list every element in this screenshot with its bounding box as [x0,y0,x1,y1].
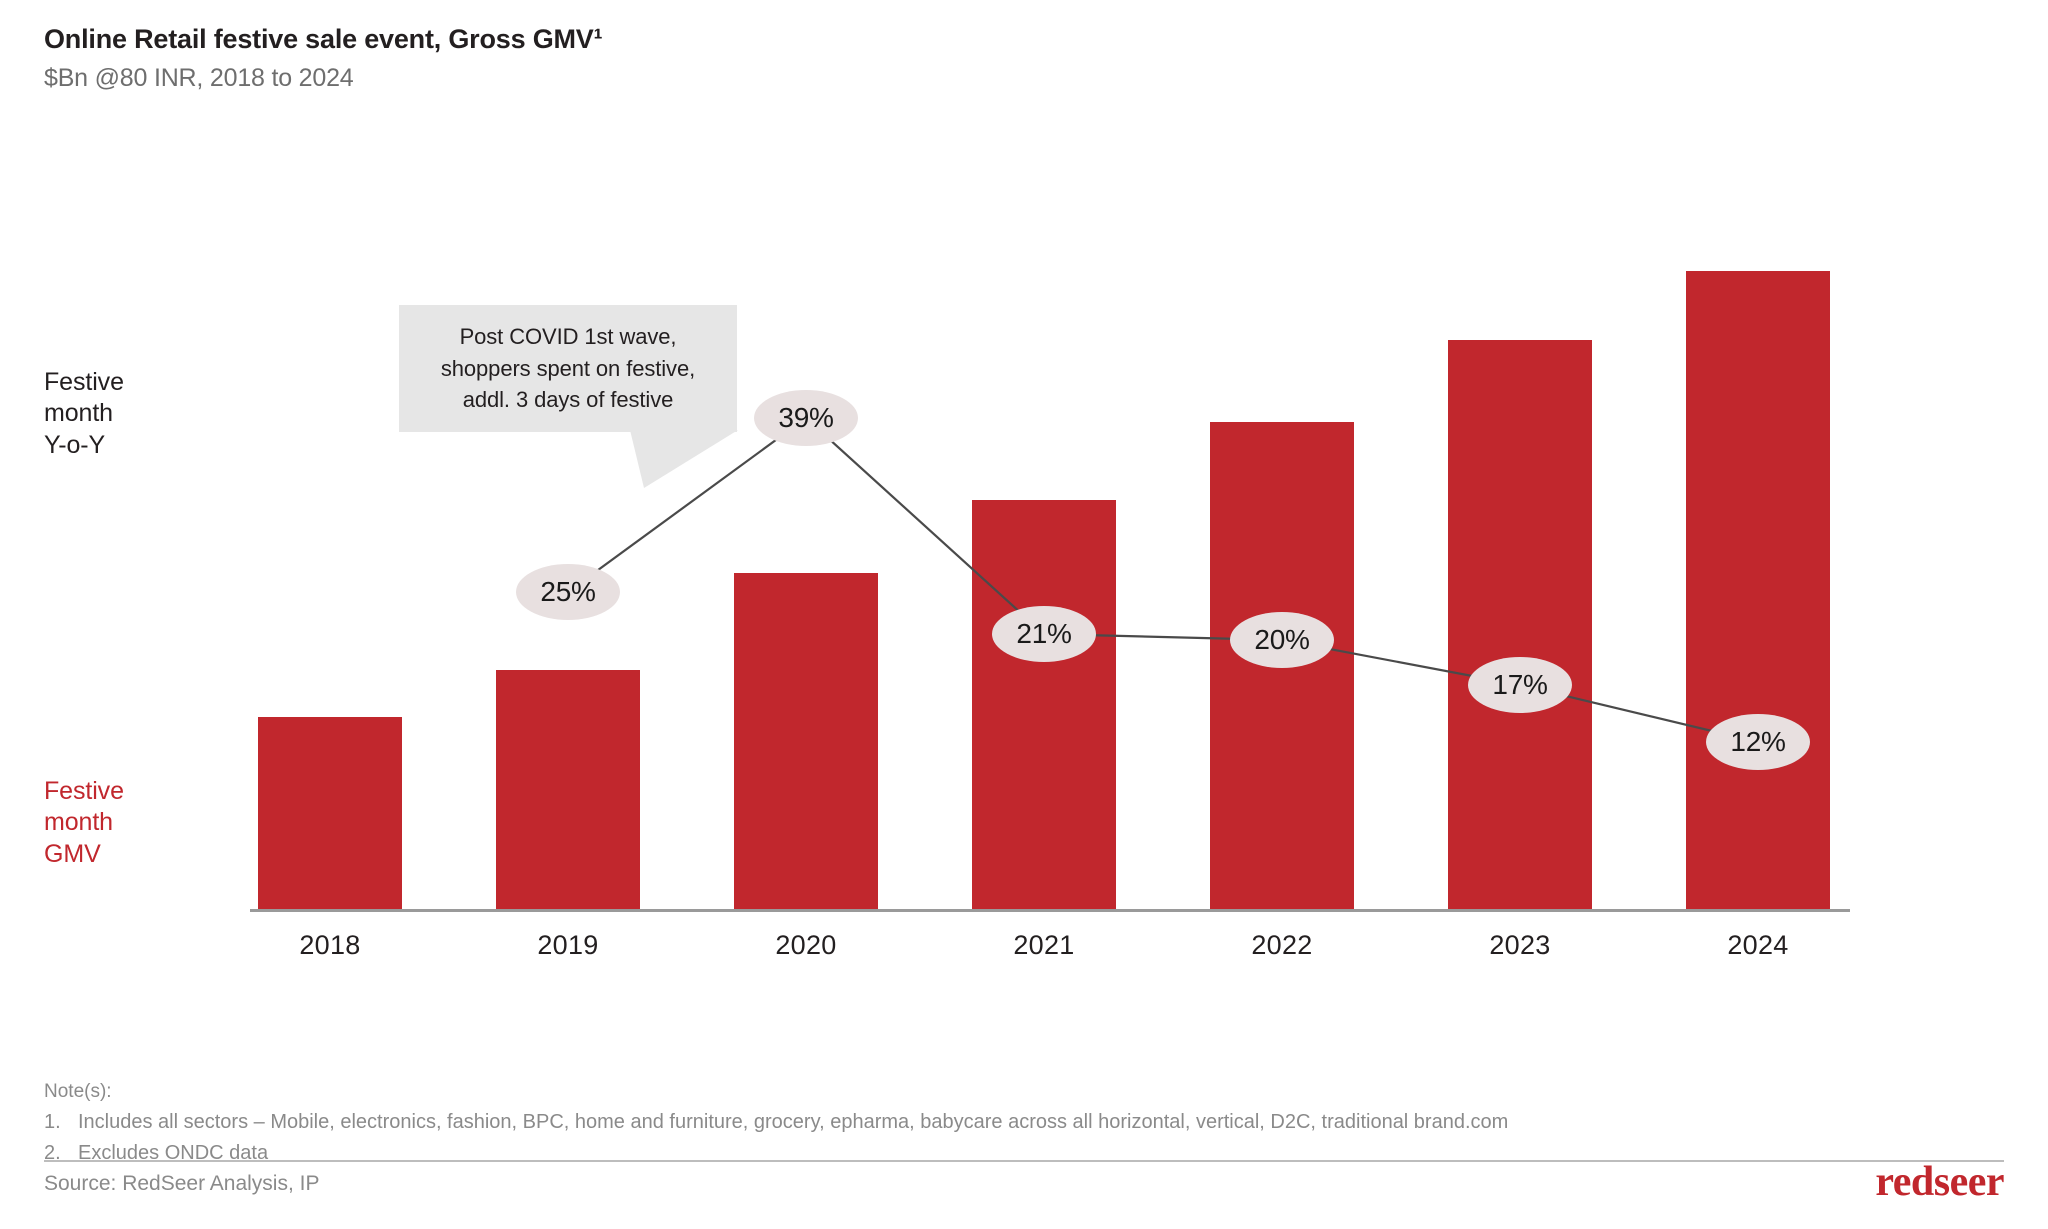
bar-2019[interactable] [496,670,640,909]
bar-2023[interactable] [1448,340,1592,909]
annotation-callout-text: Post COVID 1st wave, shoppers spent on f… [441,321,695,417]
x-tick-2018: 2018 [250,930,410,961]
note-number-1: 1. [44,1107,78,1138]
x-axis-line [250,909,1850,912]
x-tick-2022: 2022 [1202,930,1362,961]
x-tick-2024: 2024 [1678,930,1838,961]
notes-heading: Note(s): [44,1078,2004,1107]
bar-2020[interactable] [734,573,878,909]
redseer-logo: redseer [1875,1158,2004,1206]
note-text-2: Excludes ONDC data [78,1138,268,1169]
yoy-badge-2021[interactable]: 21% [992,606,1096,662]
x-tick-2021: 2021 [964,930,1124,961]
x-tick-2020: 2020 [726,930,886,961]
bar-2021[interactable] [972,500,1116,909]
note-number-2: 2. [44,1138,78,1169]
yoy-badge-2019[interactable]: 25% [516,564,620,620]
bar-2018[interactable] [258,717,402,909]
yoy-badge-2023[interactable]: 17% [1468,657,1572,713]
footer-notes: Note(s): 1. Includes all sectors – Mobil… [44,1078,2004,1169]
note-item-1: 1. Includes all sectors – Mobile, electr… [44,1107,2004,1138]
annotation-callout: Post COVID 1st wave, shoppers spent on f… [399,305,737,432]
footer-divider [44,1160,2004,1162]
bar-2024[interactable] [1686,271,1830,909]
annotation-callout-tail [630,430,760,490]
yoy-badge-2020[interactable]: 39% [754,390,858,446]
note-text-1: Includes all sectors – Mobile, electroni… [78,1107,1508,1138]
x-tick-2023: 2023 [1440,930,1600,961]
yoy-badge-2022[interactable]: 20% [1230,612,1334,668]
note-item-2: 2. Excludes ONDC data [44,1138,2004,1169]
source-text: Source: RedSeer Analysis, IP [44,1172,319,1196]
chart-plot-area: 2018 2019 2020 2021 2022 2023 2024 25% 3… [0,0,2048,1000]
x-tick-2019: 2019 [488,930,648,961]
yoy-badge-2024[interactable]: 12% [1706,714,1810,770]
